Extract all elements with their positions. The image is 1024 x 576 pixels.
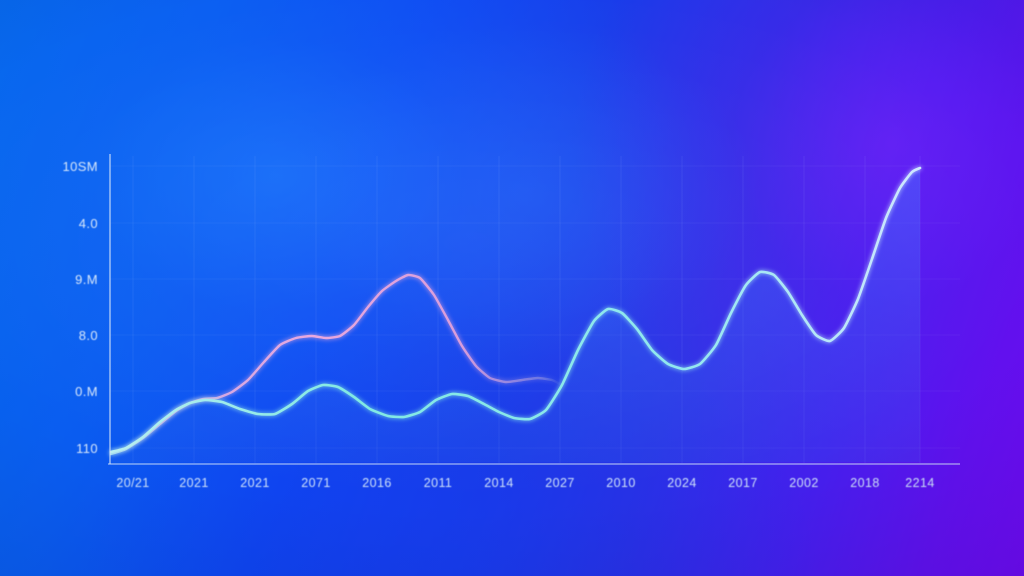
chart-screenshot: 10SM4.09.M8.00.M110 20/21202120212071201…: [0, 0, 1024, 576]
vignette-overlay: [0, 0, 1024, 576]
